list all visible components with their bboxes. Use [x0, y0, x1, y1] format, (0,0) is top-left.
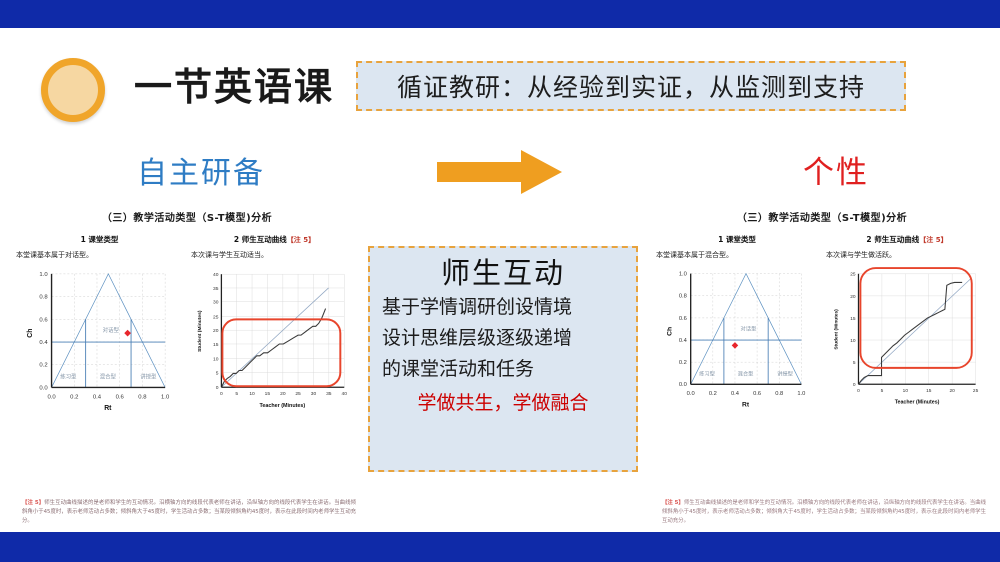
- svg-text:0.2: 0.2: [70, 394, 78, 400]
- right-chart2-note-tag: 【注 5】: [919, 236, 947, 244]
- left-report-panel: （三）教学活动类型（S-T模型)分析 1 课堂类型 本堂课基本属于对话型。: [12, 200, 362, 530]
- right-report-panel: （三）教学活动类型（S-T模型)分析 1 课堂类型 本堂课基本属于混合型。: [652, 200, 992, 530]
- svg-text:练习型: 练习型: [699, 370, 716, 378]
- svg-text:0: 0: [216, 385, 219, 391]
- svg-text:15: 15: [213, 342, 219, 348]
- left-white-margin: [0, 28, 12, 532]
- svg-text:15: 15: [265, 391, 271, 397]
- svg-text:5: 5: [881, 388, 884, 394]
- svg-text:Ch: Ch: [666, 327, 673, 336]
- right-chart1-heading: 1 课堂类型: [652, 234, 822, 245]
- svg-text:0.4: 0.4: [731, 391, 740, 397]
- svg-text:对话型: 对话型: [741, 324, 758, 332]
- right-chart2-heading-text: 2 师生互动曲线: [866, 235, 919, 244]
- svg-text:10: 10: [249, 391, 255, 397]
- left-chart2-heading: 2 师生互动曲线【注 5】: [187, 234, 362, 245]
- svg-text:0.2: 0.2: [679, 360, 687, 366]
- right-chart1-col: 1 课堂类型 本堂课基本属于混合型。: [652, 234, 822, 423]
- slide-canvas: 一节英语课 循证教研：从经验到实证，从监测到支持 自主研备 个性 （三）教学活动…: [0, 0, 1000, 562]
- svg-text:1.0: 1.0: [679, 272, 687, 278]
- left-footnote: 【注 5】师生互动曲线描述的是老师和学生的互动情况。沿横轴方向的线段代表老师在讲…: [22, 499, 356, 526]
- svg-text:0.4: 0.4: [93, 394, 102, 400]
- left-chart2-heading-text: 2 师生互动曲线: [234, 235, 287, 244]
- left-section-title: （三）教学活动类型（S-T模型)分析: [12, 200, 362, 224]
- svg-text:40: 40: [342, 391, 348, 397]
- svg-text:练习型: 练习型: [60, 373, 77, 381]
- svg-text:对话型: 对话型: [103, 326, 120, 334]
- left-chart1-col: 1 课堂类型 本堂课基本属于对话型。: [12, 234, 187, 427]
- svg-text:10: 10: [213, 357, 219, 363]
- right-chart1-subtitle: 本堂课基本属于混合型。: [656, 250, 822, 260]
- svg-text:15: 15: [850, 316, 856, 322]
- svg-text:5: 5: [853, 360, 856, 366]
- svg-text:0: 0: [220, 391, 223, 397]
- top-blue-bar: [0, 0, 1000, 28]
- page-title: 一节英语课: [134, 63, 334, 111]
- callout-title: 师生互动: [378, 254, 628, 292]
- svg-text:25: 25: [850, 272, 856, 278]
- orange-circle-icon: [41, 58, 105, 122]
- bottom-blue-bar: [0, 532, 1000, 562]
- svg-text:混合型: 混合型: [738, 370, 755, 378]
- svg-text:0.8: 0.8: [39, 295, 48, 301]
- svg-text:Student (Minutes): Student (Minutes): [197, 310, 203, 352]
- svg-text:1.0: 1.0: [797, 391, 805, 397]
- svg-text:Teacher (Minutes): Teacher (Minutes): [259, 403, 305, 409]
- svg-text:Teacher (Minutes): Teacher (Minutes): [895, 399, 940, 405]
- svg-text:0.0: 0.0: [687, 391, 695, 397]
- svg-text:30: 30: [213, 300, 219, 306]
- left-chart2-col: 2 师生互动曲线【注 5】 本次课与学生互动适当。: [187, 234, 362, 427]
- svg-text:0.6: 0.6: [116, 394, 125, 400]
- left-footnote-text: 师生互动曲线描述的是老师和学生的互动情况。沿横轴方向的线段代表老师在讲话，沿纵轴…: [22, 500, 356, 524]
- svg-text:0.2: 0.2: [39, 363, 47, 369]
- right-footnote-tag: 【注 5】: [662, 500, 684, 506]
- svg-text:0.4: 0.4: [679, 338, 688, 344]
- right-charts-row: 1 课堂类型 本堂课基本属于混合型。: [652, 234, 992, 423]
- svg-text:25: 25: [295, 391, 301, 397]
- svg-text:20: 20: [850, 294, 856, 300]
- left-chart1-subtitle: 本堂课基本属于对话型。: [16, 250, 187, 260]
- svg-text:20: 20: [950, 388, 956, 394]
- left-footnote-tag: 【注 5】: [22, 500, 44, 506]
- left-st-scatter-plot: 0.00.2 0.40.6 0.81.0 0.00.2 0.40.6 0.81.…: [12, 264, 187, 427]
- svg-text:Student (Minutes): Student (Minutes): [833, 309, 839, 350]
- svg-text:讲授型: 讲授型: [140, 373, 157, 381]
- svg-text:5: 5: [235, 391, 238, 397]
- svg-text:0.0: 0.0: [679, 382, 687, 388]
- banner-text: 循证教研：从经验到实证，从监测到支持: [397, 68, 865, 104]
- svg-text:20: 20: [280, 391, 286, 397]
- svg-text:Rt: Rt: [104, 405, 112, 412]
- center-callout-box: 师生互动 基于学情调研创设情境 设计思维层级逐级递增 的课堂活动和任务 学做共生…: [368, 246, 638, 472]
- svg-text:0.6: 0.6: [679, 316, 687, 322]
- svg-text:0.6: 0.6: [753, 391, 761, 397]
- callout-line-2: 设计思维层级逐级递增: [378, 323, 628, 354]
- right-section-label: 个性: [803, 147, 869, 192]
- right-st-scatter-plot: 0.00.2 0.40.6 0.81.0 0.00.2 0.40.6 0.81.…: [652, 264, 822, 423]
- left-charts-row: 1 课堂类型 本堂课基本属于对话型。: [12, 234, 362, 427]
- svg-text:Ch: Ch: [27, 329, 34, 338]
- right-section-title: （三）教学活动类型（S-T模型)分析: [652, 200, 992, 224]
- svg-text:0: 0: [853, 382, 856, 388]
- right-interaction-curve-plot: 0510 152025 0510 152025 Student (Minutes…: [822, 264, 992, 423]
- right-footnote-text: 师生互动曲线描述的是老师和学生的互动情况。沿横轴方向的线段代表老师在讲话，沿纵轴…: [662, 500, 986, 524]
- svg-text:35: 35: [326, 391, 332, 397]
- right-chart2-subtitle: 本次课与学生做活跃。: [826, 250, 992, 260]
- svg-text:0.8: 0.8: [775, 391, 783, 397]
- svg-text:30: 30: [311, 391, 317, 397]
- svg-text:讲授型: 讲授型: [777, 370, 794, 378]
- svg-text:0.0: 0.0: [47, 394, 56, 400]
- svg-text:0.6: 0.6: [39, 317, 48, 323]
- left-interaction-curve-plot: 0510 152025 303540 0510 152025 303540 St…: [187, 264, 362, 427]
- callout-line-3: 的课堂活动和任务: [378, 354, 628, 385]
- left-chart2-subtitle: 本次课与学生互动适当。: [191, 250, 362, 260]
- banner-box: 循证教研：从经验到实证，从监测到支持: [356, 61, 906, 111]
- svg-text:40: 40: [213, 272, 219, 278]
- svg-text:10: 10: [850, 338, 856, 344]
- svg-text:25: 25: [973, 388, 979, 394]
- svg-text:15: 15: [926, 388, 932, 394]
- svg-text:1.0: 1.0: [161, 394, 170, 400]
- svg-text:0.2: 0.2: [709, 391, 717, 397]
- svg-text:1.0: 1.0: [39, 272, 48, 278]
- svg-text:25: 25: [213, 314, 219, 320]
- callout-footer: 学做共生，学做融合: [378, 388, 628, 418]
- svg-text:10: 10: [903, 388, 909, 394]
- svg-text:Rt: Rt: [742, 401, 750, 408]
- left-chart2-note-tag: 【注 5】: [287, 236, 315, 244]
- svg-text:0.0: 0.0: [39, 385, 48, 391]
- svg-text:0.4: 0.4: [39, 340, 48, 346]
- left-chart1-heading: 1 课堂类型: [12, 234, 187, 245]
- svg-text:35: 35: [213, 286, 219, 292]
- svg-text:5: 5: [216, 370, 219, 376]
- svg-text:0.8: 0.8: [679, 294, 687, 300]
- right-footnote: 【注 5】师生互动曲线描述的是老师和学生的互动情况。沿横轴方向的线段代表老师在讲…: [662, 499, 986, 526]
- svg-text:混合型: 混合型: [100, 373, 117, 381]
- svg-text:20: 20: [213, 328, 219, 334]
- right-chart2-heading: 2 师生互动曲线【注 5】: [822, 234, 992, 245]
- svg-text:0: 0: [857, 388, 860, 394]
- right-chart2-col: 2 师生互动曲线【注 5】 本次课与学生做活跃。: [822, 234, 992, 423]
- svg-text:0.8: 0.8: [138, 394, 147, 400]
- right-arrow-icon: [437, 150, 562, 194]
- left-section-label: 自主研备: [137, 148, 265, 192]
- callout-line-1: 基于学情调研创设情境: [378, 292, 628, 323]
